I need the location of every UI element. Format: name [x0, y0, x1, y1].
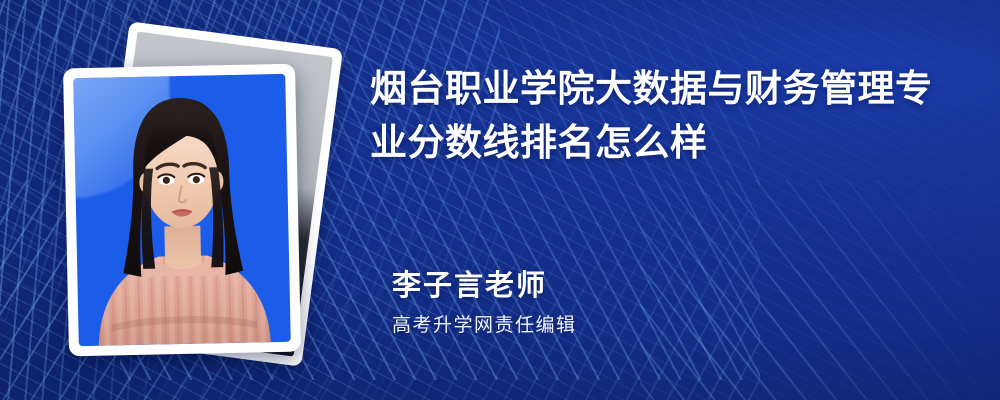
byline: 李子言老师 高考升学网责任编辑	[392, 266, 577, 342]
article-cover-banner: 烟台职业学院大数据与财务管理专业分数线排名怎么样 李子言老师 高考升学网责任编辑	[0, 0, 1000, 400]
photo-card-icon	[63, 64, 301, 357]
banner-content: 烟台职业学院大数据与财务管理专业分数线排名怎么样 李子言老师 高考升学网责任编辑	[370, 0, 1000, 400]
author-name: 李子言老师	[392, 266, 577, 306]
avatar	[73, 74, 291, 346]
page-title: 烟台职业学院大数据与财务管理专业分数线排名怎么样	[370, 62, 950, 170]
portrait-illustration	[73, 74, 291, 346]
author-role: 高考升学网责任编辑	[392, 310, 577, 342]
photo-card-stack	[48, 28, 368, 373]
